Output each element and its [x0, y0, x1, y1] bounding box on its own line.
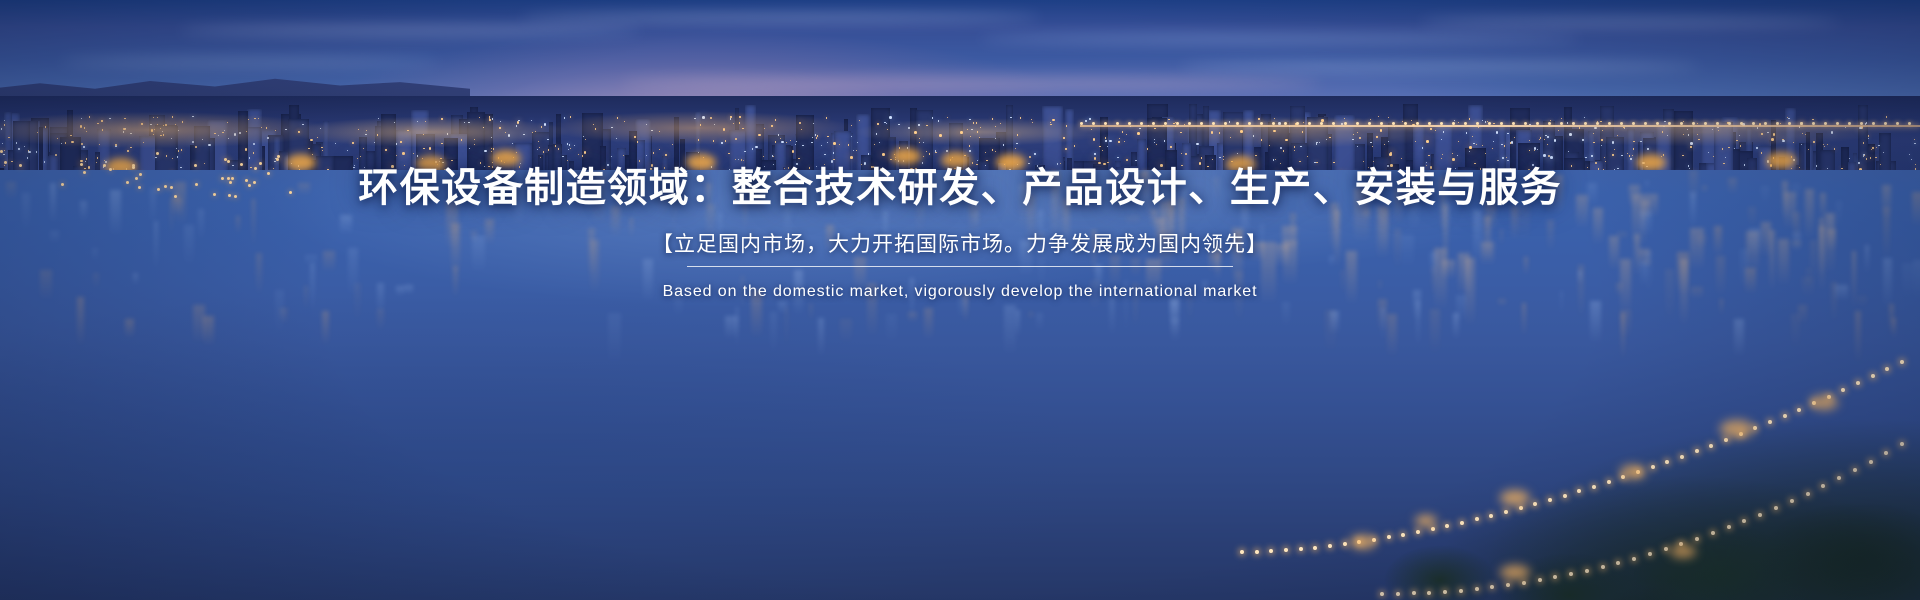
banner-headline: 环保设备制造领域：整合技术研发、产品设计、生产、安装与服务 [358, 168, 1562, 208]
bridge [1080, 118, 1920, 134]
cloud-streak [1420, 18, 1840, 26]
cloud-streak [520, 14, 1040, 21]
bridge-deck [1080, 125, 1920, 127]
cloud-streak [180, 26, 640, 35]
banner-subtitle: 【立足国内市场，大力开拓国际市场。力争发展成为国内领先】 [652, 232, 1268, 257]
cloud-streak [980, 34, 1580, 44]
banner-english-caption: Based on the domestic market, vigorously… [663, 282, 1258, 301]
banner-subtitle-group: 【立足国内市场，大力开拓国际市场。力争发展成为国内领先】 Based on th… [652, 232, 1268, 301]
cloud-streak [620, 78, 1320, 89]
subtitle-divider [687, 266, 1233, 267]
cloud-streak [1180, 62, 1700, 71]
cloud-streak [60, 58, 440, 66]
hero-banner: 环保设备制造领域：整合技术研发、产品设计、生产、安装与服务 【立足国内市场，大力… [0, 0, 1920, 600]
